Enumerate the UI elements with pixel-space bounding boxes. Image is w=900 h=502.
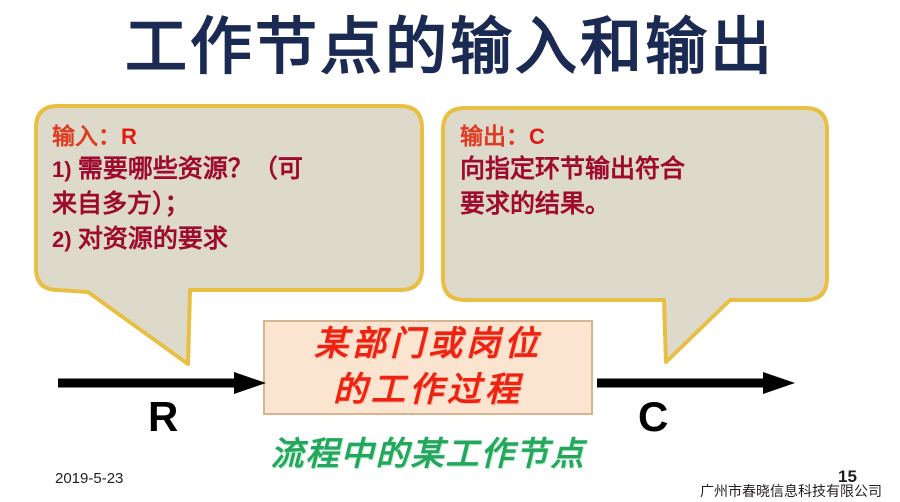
output-callout-heading: 输出：C [460,122,820,152]
footer-date: 2019-5-23 [55,470,123,487]
output-callout-text: 输出：C 向指定环节输出符合 要求的结果。 [460,122,820,222]
input-callout-heading-symbol: R [121,124,137,149]
input-callout-heading-label: 输入： [52,124,121,149]
input-arrow-label: R [148,396,178,438]
input-callout-line-2: 来自多方）； [52,187,402,222]
input-callout-line-1-text: 需要哪些资源？（可 [78,156,303,183]
input-callout-text: 输入：R 1) 需要哪些资源？（可 来自多方）； 2) 对资源的要求 [52,122,402,257]
slide-canvas: 工作节点的输入和输出 输入：R 1) 需要哪些资源？（可 来自多方）； 2) 对… [0,0,900,502]
output-callout-line-2-text: 要求的结果。 [460,191,610,218]
output-callout-line-1-text: 向指定环节输出符合 [460,156,685,183]
process-node-label: 某部门或岗位 的工作过程 [263,322,593,414]
process-node-label-line-2: 的工作过程 [333,368,523,414]
process-node-caption: 流程中的某工作节点 [193,434,663,476]
input-callout-line-1: 1) 需要哪些资源？（可 [52,152,402,187]
input-callout-line-2-text: 来自多方）； [52,191,190,218]
output-callout-line-2: 要求的结果。 [460,187,820,222]
input-callout-line-1-number: 1) [52,157,72,182]
output-arrow-label: C [638,396,668,438]
input-callout-heading: 输入：R [52,122,402,152]
output-callout-heading-label: 输出： [460,124,529,149]
process-node-label-line-1: 某部门或岗位 [314,322,542,368]
page-title: 工作节点的输入和输出 [0,10,900,86]
output-callout-heading-symbol: C [529,124,545,149]
output-callout-line-1: 向指定环节输出符合 [460,152,820,187]
page-number: 15 [838,467,857,487]
input-callout-line-3-text: 对资源的要求 [78,226,228,253]
input-callout-line-3: 2) 对资源的要求 [52,222,402,257]
output-arrow [597,370,797,396]
input-callout-line-3-number: 2) [52,227,72,252]
